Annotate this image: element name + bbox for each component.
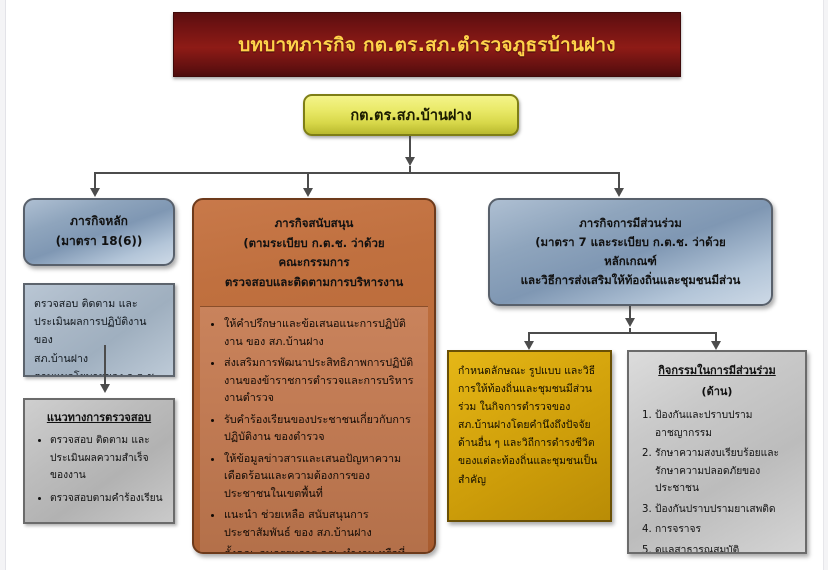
participation-heading: ภารกิจการมีส่วนร่วม (มาตรา 7 และระเบียบ … — [513, 214, 749, 290]
diagram-title-text: บทบาทภารกิจ กต.ตร.สภ.ตำรวจภูธรบ้านฝาง — [238, 30, 615, 60]
activities-title: กิจกรรมในการมีส่วนร่วม — [638, 361, 796, 379]
gold-box-text: กำหนดลักษณะ รูปแบบ และวิธีการให้ท้องถิ่น… — [458, 362, 601, 489]
support-list-item: ตั้งคณะอนุกรรมการ คณะทำงาน หรือที่ปรึกษา — [224, 545, 416, 554]
connector-branch-center-arrow — [303, 188, 313, 197]
connector-participation-horizontal — [528, 332, 717, 334]
activities-list-item: ป้องกันและปราบปรามอาชญากรรม — [655, 407, 796, 442]
connector-participation-arrow — [625, 318, 635, 327]
inspect-line-3: ของ — [34, 331, 164, 349]
node-participation-activities[interactable]: กิจกรรมในการมีส่วนร่วม (ด้าน) ป้องกันและ… — [627, 350, 807, 554]
diagram-canvas: บทบาทภารกิจ กต.ตร.สภ.ตำรวจภูธรบ้านฝาง กต… — [0, 0, 828, 570]
connector-branch-right-arrow — [614, 188, 624, 197]
support-list-item: ให้คำปรึกษาและข้อเสนอแนะการปฏิบัติงาน ขอ… — [224, 315, 416, 350]
support-list: ให้คำปรึกษาและข้อเสนอแนะการปฏิบัติงาน ขอ… — [204, 315, 420, 554]
node-support-duties[interactable]: ภารกิจสนับสนุน (ตามระเบียบ ก.ต.ช. ว่าด้ว… — [192, 198, 436, 554]
support-list-item: แนะนำ ช่วยเหลือ สนับสนุนการประชาสัมพันธ์… — [224, 506, 416, 541]
connector-activities-arrow — [711, 341, 721, 350]
activities-list: ป้องกันและปราบปรามอาชญากรรม รักษาความสงบ… — [638, 407, 796, 554]
support-heading-line1: ภารกิจสนับสนุน — [204, 214, 424, 234]
connector-root-arrow — [405, 157, 415, 166]
node-main-duty-header[interactable]: ภารกิจหลัก (มาตรา 18(6)) — [23, 198, 175, 266]
node-participation-header[interactable]: ภารกิจการมีส่วนร่วม (มาตรา 7 และระเบียบ … — [488, 198, 773, 306]
activities-list-item: รักษาความสงบเรียบร้อยและรักษาความปลอดภัย… — [655, 445, 796, 498]
support-list-item: รับคำร้องเรียนของประชาชนเกี่ยวกับการปฏิบ… — [224, 411, 416, 446]
main-duty-heading-line1: ภารกิจหลัก — [56, 212, 143, 232]
inspect-line-5: ตามแนวโยบายของ ก.ต.ช. — [34, 368, 164, 377]
connector-branch-left — [94, 172, 96, 189]
support-list-item: ส่งเสริมการพัฒนาประสิทธิภาพการปฏิบัติงาน… — [224, 354, 416, 406]
support-heading-line2: (ตามระเบียบ ก.ต.ช. ว่าด้วย — [204, 234, 424, 254]
node-inspection-guidelines[interactable]: แนวทางการตรวจสอบ ตรวจสอบ ติดตาม และประเม… — [23, 398, 175, 524]
connector-root-stem — [409, 136, 411, 158]
connector-inspect-stem — [104, 345, 106, 385]
connector-trunk-horizontal — [94, 172, 620, 174]
connector-branch-right — [618, 172, 620, 189]
participation-heading-line2: (มาตรา 7 และระเบียบ ก.ต.ช. ว่าด้วย — [521, 233, 741, 252]
inspect-line-1: ตรวจสอบ ติดตาม และ — [34, 295, 164, 313]
guideline-title: แนวทางการตรวจสอบ — [33, 408, 165, 426]
activities-list-item: ดูแลสาธารณสมบัติ — [655, 542, 796, 554]
support-list-item: ให้ข้อมูลข่าวสารและเสนอปัญหาความเดือดร้อ… — [224, 450, 416, 502]
connector-branch-center — [307, 172, 309, 189]
guideline-item: ตรวจสอบ ติดตาม และประเมินผลความสำเร็จของ… — [50, 432, 165, 485]
inspect-line-4: สภ.บ้านฝาง — [34, 350, 164, 368]
main-duty-heading: ภารกิจหลัก (มาตรา 18(6)) — [48, 212, 151, 252]
support-heading-line3: คณะกรรมการ — [204, 253, 424, 273]
connector-gold-arrow — [524, 341, 534, 350]
activities-list-item: การจราจร — [655, 521, 796, 539]
connector-branch-left-arrow — [90, 188, 100, 197]
guideline-list: ตรวจสอบ ติดตาม และประเมินผลความสำเร็จของ… — [33, 432, 165, 507]
connector-inspect-arrow — [100, 384, 110, 393]
activities-subtitle: (ด้าน) — [638, 382, 796, 400]
participation-heading-line1: ภารกิจการมีส่วนร่วม — [521, 214, 741, 233]
node-participation-definition[interactable]: กำหนดลักษณะ รูปแบบ และวิธีการให้ท้องถิ่น… — [447, 350, 612, 522]
node-inspect-evaluate[interactable]: ตรวจสอบ ติดตาม และ ประเมินผลการปฏิบัติงา… — [23, 283, 175, 377]
main-duty-heading-line2: (มาตรา 18(6)) — [56, 232, 143, 252]
root-node-label: กต.ตร.สภ.บ้านฝาง — [350, 104, 471, 127]
participation-heading-line4: และวิธีการส่งเสริมให้ท้องถิ่นและชุมชนมีส… — [521, 271, 741, 290]
guideline-item: ตรวจสอบตามคำร้องเรียน — [50, 490, 165, 508]
support-heading-line4: ตรวจสอบและติดตามการบริหารงาน — [204, 273, 424, 293]
diagram-title-banner: บทบาทภารกิจ กต.ตร.สภ.ตำรวจภูธรบ้านฝาง — [173, 12, 681, 77]
participation-heading-line3: หลักเกณฑ์ — [521, 252, 741, 271]
support-heading: ภารกิจสนับสนุน (ตามระเบียบ ก.ต.ช. ว่าด้ว… — [194, 200, 434, 302]
support-body: ให้คำปรึกษาและข้อเสนอแนะการปฏิบัติงาน ขอ… — [200, 306, 428, 554]
inspect-line-2: ประเมินผลการปฏิบัติงาน — [34, 313, 164, 331]
root-node-kortortor[interactable]: กต.ตร.สภ.บ้านฝาง — [303, 94, 519, 136]
activities-list-item: ป้องกันปราบปรามยาเสพติด — [655, 501, 796, 519]
